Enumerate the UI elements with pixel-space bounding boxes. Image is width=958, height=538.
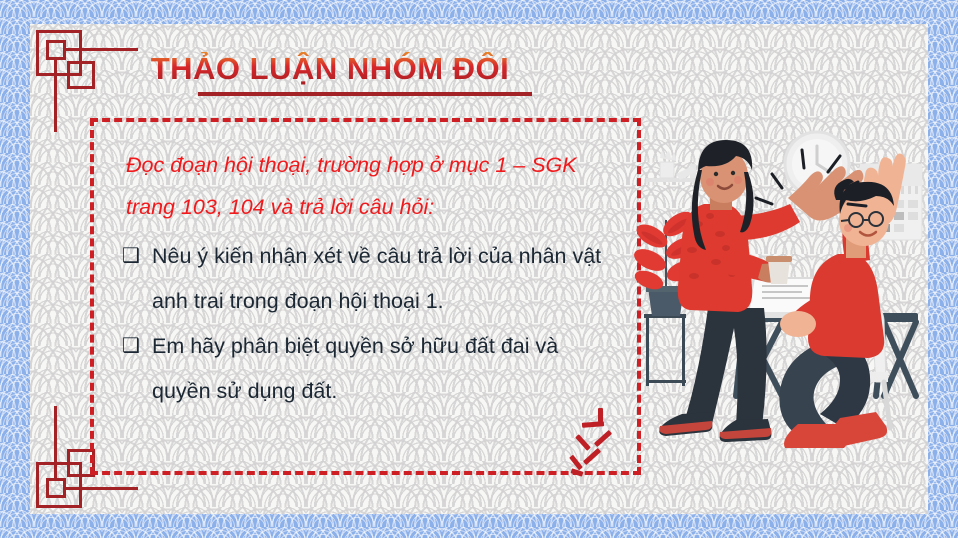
corner-line-vertical [54,406,57,478]
corner-square-small [46,478,66,498]
illustration-two-people-high-five [632,128,932,448]
checkbox-square-icon: ❑ [122,234,152,279]
title-underline [198,92,532,96]
corner-line-horizontal [66,487,138,490]
slide-canvas: THẢO LUẬN NHÓM ĐÔI Đọc đoạn hội thoại, t… [0,0,958,538]
illustration-svg [632,128,932,448]
question-list: ❑ Nêu ý kiến nhận xét về câu trả lời của… [122,234,622,414]
speech-bubble-tail [568,406,628,478]
checkbox-square-icon: ❑ [122,324,152,369]
title-block: THẢO LUẬN NHÓM ĐÔI [0,52,660,86]
list-item: ❑ Em hãy phân biệt quyền sở hữu đất đai … [122,324,622,414]
question-speech-box: Đọc đoạn hội thoại, trường hợp ở mục 1 –… [90,118,641,475]
instruction-text: Đọc đoạn hội thoại, trường hợp ở mục 1 –… [126,144,616,228]
corner-line-horizontal [66,48,138,51]
question-text: Em hãy phân biệt quyền sở hữu đất đai và… [152,324,622,414]
question-text: Nêu ý kiến nhận xét về câu trả lời của n… [152,234,622,324]
page-title: THẢO LUẬN NHÓM ĐÔI [151,52,510,86]
list-item: ❑ Nêu ý kiến nhận xét về câu trả lời của… [122,234,622,324]
